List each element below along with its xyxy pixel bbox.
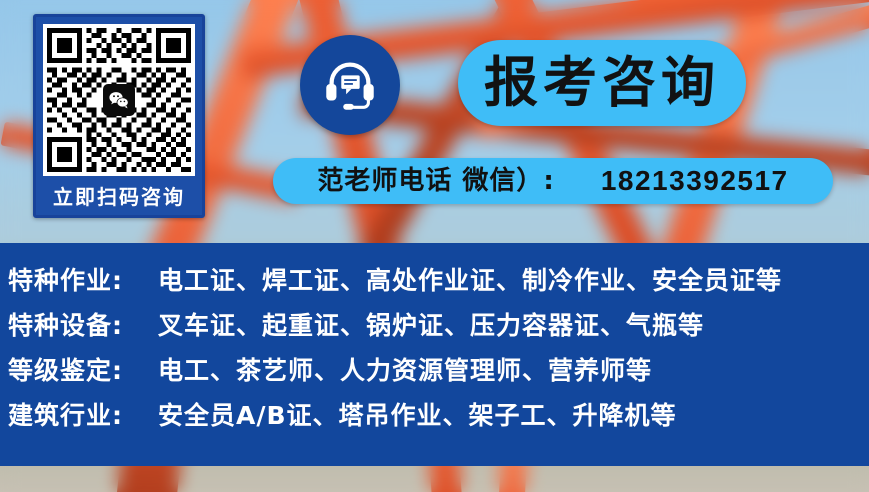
contact-phone-pill[interactable]: 范老师电话 微信）: 18213392517: [273, 158, 833, 204]
support-headset-badge[interactable]: [300, 35, 400, 135]
qr-scan-label: 立即扫码咨询: [36, 180, 202, 214]
consult-title-pill[interactable]: 报考咨询: [458, 40, 746, 126]
consult-title-text: 报考咨询: [484, 56, 720, 110]
info-row-grade-assessment: 等级鉴定: 电工、茶艺师、人力资源管理师、营养师等: [8, 351, 861, 396]
info-row-special-operations: 特种作业: 电工证、焊工证、高处作业证、制冷作业、安全员证等: [8, 261, 861, 306]
qr-code-card[interactable]: 立即扫码咨询: [33, 14, 205, 218]
info-row-construction-industry: 建筑行业: 安全员A/B证、塔吊作业、架子工、升降机等: [8, 396, 861, 441]
info-row-key: 特种作业:: [8, 261, 158, 297]
info-row-value: 安全员A/B证、塔吊作业、架子工、升降机等: [158, 396, 677, 432]
promo-poster: 立即扫码咨询 报考咨询 范老师电话 微信）: 18213392517 特种作业:: [0, 0, 869, 492]
info-row-key: 特种设备:: [8, 306, 158, 342]
contact-label: 范老师电话 微信）:: [317, 168, 554, 194]
info-row-value: 叉车证、起重证、锅炉证、压力容器证、气瓶等: [158, 306, 704, 342]
info-row-value: 电工、茶艺师、人力资源管理师、营养师等: [158, 351, 652, 387]
wechat-glyph: [107, 88, 131, 112]
info-row-value: 电工证、焊工证、高处作业证、制冷作业、安全员证等: [158, 261, 782, 297]
info-row-key: 等级鉴定:: [8, 351, 158, 387]
headset-support-icon: [319, 54, 381, 116]
info-row-key: 建筑行业:: [8, 396, 158, 432]
course-info-panel: 特种作业: 电工证、焊工证、高处作业证、制冷作业、安全员证等 特种设备: 叉车证…: [0, 243, 869, 466]
wechat-logo-icon: [103, 84, 135, 116]
course-info-list: 特种作业: 电工证、焊工证、高处作业证、制冷作业、安全员证等 特种设备: 叉车证…: [8, 261, 861, 441]
qr-code-image[interactable]: [43, 24, 195, 176]
contact-phone-number[interactable]: 18213392517: [601, 167, 789, 195]
contact-row: 范老师电话 微信）: 18213392517: [317, 167, 788, 195]
info-row-special-equipment: 特种设备: 叉车证、起重证、锅炉证、压力容器证、气瓶等: [8, 306, 861, 351]
